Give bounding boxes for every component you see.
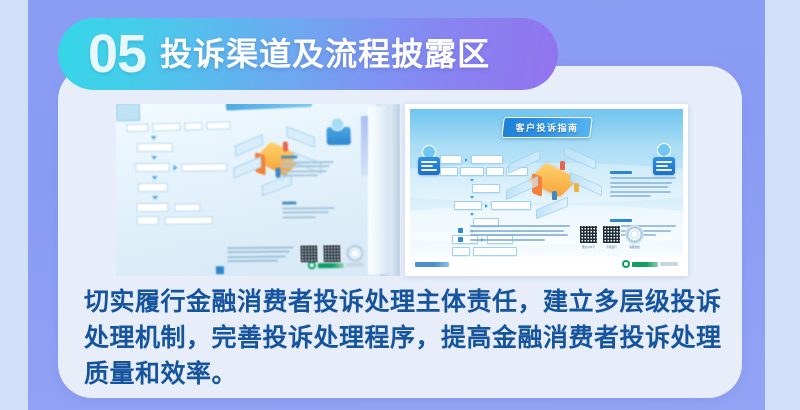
slide-page: 05 投诉渠道及流程披露区 [0,0,800,410]
iso-person-1 [560,161,565,170]
poster-qr-caption-3: 客服热线 [625,245,644,249]
section-banner: 05 投诉渠道及流程披露区 [58,18,558,90]
poster-section-1-heading [610,171,632,174]
iso-person-3 [574,183,579,192]
poster-inner: 客户投诉指南 [410,109,683,271]
poster-section-1 [610,171,676,200]
photo-badge-icon [330,117,344,131]
photo-board-edge-outer [390,104,400,276]
brand-sub-mark [660,262,678,266]
iso-panel-3 [564,146,596,170]
photo-blur-layer [116,104,400,276]
photo-text-block-2 [282,201,334,218]
iso-person-2 [552,191,557,200]
poster-qr-group: 微信公众号 手机银行 客服热线 [579,225,644,249]
poster-badge-icon-right [657,143,671,157]
section-number: 05 [88,27,146,81]
background-band-left [0,0,28,410]
poster-graphic-right[interactable]: 客户投诉指南 [405,104,688,276]
poster-bullets [458,225,465,246]
poster-brand-logo [622,260,678,268]
body-paragraph: 切实履行金融消费者投诉处理主体责任，建立多层级投诉处理机制，完善投诉处理程序，提… [84,284,724,392]
poster-footer [410,257,683,271]
brand-name-mark [632,262,658,267]
poster-title-pill: 客户投诉指南 [501,117,593,138]
brand-mark-icon [622,260,630,268]
poster-qr-code-2[interactable] [602,225,621,244]
poster-illustration [506,143,606,221]
photo-title-strip [226,104,313,111]
poster-bottom-lines [470,225,574,243]
poster-photo-left[interactable] [116,104,400,276]
photo-corner-badge [116,104,140,121]
poster-qr-caption-1: 微信公众号 [579,245,598,249]
poster-badge-left [418,157,440,175]
background-band-right [765,0,800,410]
photo-text-block-1 [281,155,334,177]
photo-flowchart [126,122,238,225]
iso-panel-1 [508,150,540,174]
photo-brand-logo [308,261,364,270]
section-title: 投诉渠道及流程披露区 [160,38,490,70]
photo-corner-icons [216,266,224,274]
poster-bottom-block: 微信公众号 手机银行 客服热线 [458,225,644,249]
photo-note-block [227,246,293,262]
poster-qr-code-1[interactable] [579,225,598,244]
poster-section-2-heading [610,219,632,222]
poster-qr-caption-2: 手机银行 [602,245,621,249]
poster-qr-code-3[interactable] [625,225,644,244]
images-row: 客户投诉指南 [116,104,688,276]
photo-tilted-board [116,104,380,276]
poster-footer-text [415,262,449,267]
iso-panel-2 [506,176,538,200]
poster-title-text: 客户投诉指南 [515,121,578,134]
